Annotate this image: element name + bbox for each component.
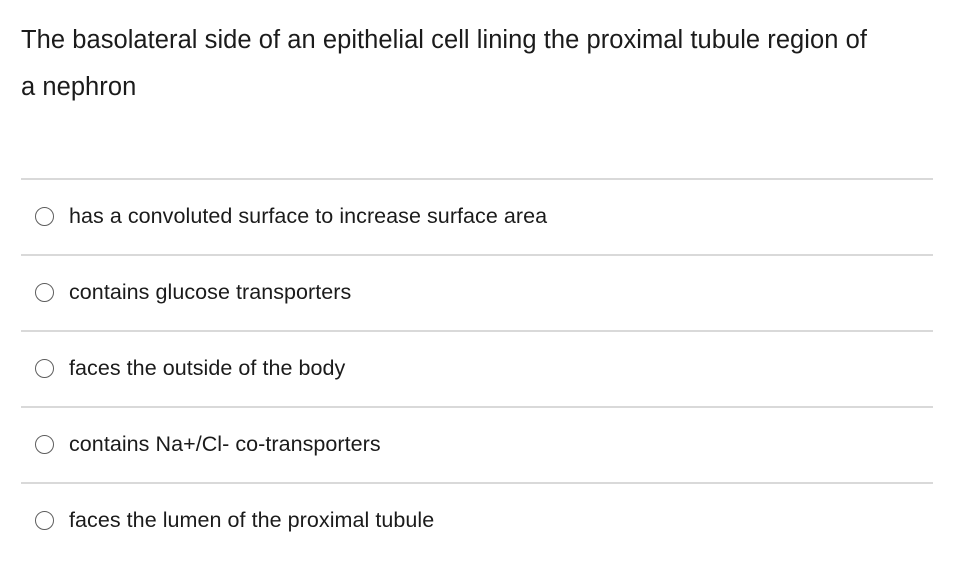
radio-unchecked-icon[interactable] <box>35 435 54 454</box>
radio-unchecked-icon[interactable] <box>35 207 54 226</box>
option-row[interactable]: faces the lumen of the proximal tubule <box>0 482 958 558</box>
radio-unchecked-icon[interactable] <box>35 359 54 378</box>
option-row[interactable]: has a convoluted surface to increase sur… <box>0 178 958 254</box>
option-4[interactable]: contains Na+/Cl- co-transporters <box>0 406 381 482</box>
option-3[interactable]: faces the outside of the body <box>0 330 345 406</box>
option-row[interactable]: contains glucose transporters <box>0 254 958 330</box>
option-row[interactable]: contains Na+/Cl- co-transporters <box>0 406 958 482</box>
option-5[interactable]: faces the lumen of the proximal tubule <box>0 482 434 558</box>
option-label: faces the lumen of the proximal tubule <box>69 507 434 533</box>
question-page: The basolateral side of an epithelial ce… <box>0 0 958 574</box>
option-label: contains Na+/Cl- co-transporters <box>69 431 381 457</box>
option-row[interactable]: faces the outside of the body <box>0 330 958 406</box>
radio-unchecked-icon[interactable] <box>35 283 54 302</box>
option-1[interactable]: has a convoluted surface to increase sur… <box>0 178 547 254</box>
option-label: faces the outside of the body <box>69 355 345 381</box>
option-label: has a convoluted surface to increase sur… <box>69 203 547 229</box>
options-list: has a convoluted surface to increase sur… <box>0 178 958 558</box>
radio-unchecked-icon[interactable] <box>35 511 54 530</box>
option-label: contains glucose transporters <box>69 279 351 305</box>
question-stem: The basolateral side of an epithelial ce… <box>21 17 881 111</box>
option-2[interactable]: contains glucose transporters <box>0 254 351 330</box>
